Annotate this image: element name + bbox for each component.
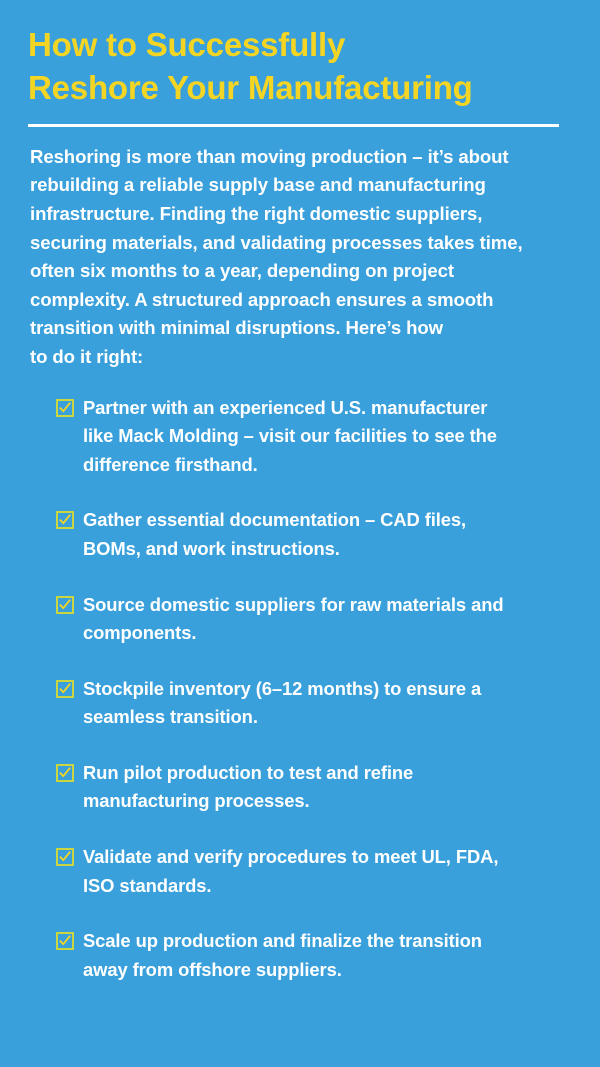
list-item-line: Partner with an experienced U.S. manufac… bbox=[83, 394, 497, 423]
list-item-text: Scale up production and finalize the tra… bbox=[83, 927, 482, 984]
list-item-line: away from offshore suppliers. bbox=[83, 956, 482, 985]
list-item-text: Validate and verify procedures to meet U… bbox=[83, 843, 498, 900]
list-item: Gather essential documentation – CAD fil… bbox=[56, 506, 590, 563]
list-item-line: Source domestic suppliers for raw materi… bbox=[83, 591, 503, 620]
header: How to Successfully Reshore Your Manufac… bbox=[0, 0, 600, 127]
list-item: Partner with an experienced U.S. manufac… bbox=[56, 394, 590, 480]
checkbox-checked-icon bbox=[56, 764, 74, 782]
list-item-line: difference firsthand. bbox=[83, 451, 497, 480]
list-item: Validate and verify procedures to meet U… bbox=[56, 843, 590, 900]
list-item-line: Gather essential documentation – CAD fil… bbox=[83, 506, 466, 535]
title-line-2: Reshore Your Manufacturing bbox=[28, 67, 570, 110]
infographic-poster: How to Successfully Reshore Your Manufac… bbox=[0, 0, 600, 1067]
list-item-line: ISO standards. bbox=[83, 872, 498, 901]
checklist: Partner with an experienced U.S. manufac… bbox=[0, 394, 600, 985]
intro-line-5: often six months to a year, depending on… bbox=[30, 257, 574, 286]
title-divider bbox=[28, 124, 559, 127]
list-item: Run pilot production to test and refine … bbox=[56, 759, 590, 816]
list-item-text: Partner with an experienced U.S. manufac… bbox=[83, 394, 497, 480]
checkbox-checked-icon bbox=[56, 848, 74, 866]
list-item: Stockpile inventory (6–12 months) to ens… bbox=[56, 675, 590, 732]
list-item-line: Stockpile inventory (6–12 months) to ens… bbox=[83, 675, 481, 704]
checkbox-checked-icon bbox=[56, 399, 74, 417]
list-item-line: BOMs, and work instructions. bbox=[83, 535, 466, 564]
list-item-line: manufacturing processes. bbox=[83, 787, 413, 816]
page-title: How to Successfully Reshore Your Manufac… bbox=[28, 24, 570, 110]
intro-line-1: Reshoring is more than moving production… bbox=[30, 143, 574, 172]
list-item-line: components. bbox=[83, 619, 503, 648]
list-item-text: Run pilot production to test and refine … bbox=[83, 759, 413, 816]
intro-paragraph: Reshoring is more than moving production… bbox=[0, 143, 600, 372]
list-item-line: Validate and verify procedures to meet U… bbox=[83, 843, 498, 872]
list-item: Source domestic suppliers for raw materi… bbox=[56, 591, 590, 648]
checkbox-checked-icon bbox=[56, 511, 74, 529]
list-item-text: Stockpile inventory (6–12 months) to ens… bbox=[83, 675, 481, 732]
intro-line-4: securing materials, and validating proce… bbox=[30, 229, 574, 258]
list-item-line: Scale up production and finalize the tra… bbox=[83, 927, 482, 956]
list-item-text: Source domestic suppliers for raw materi… bbox=[83, 591, 503, 648]
list-item-line: like Mack Molding – visit our facilities… bbox=[83, 422, 497, 451]
intro-line-8: to do it right: bbox=[30, 343, 574, 372]
list-item-text: Gather essential documentation – CAD fil… bbox=[83, 506, 466, 563]
intro-line-7: transition with minimal disruptions. Her… bbox=[30, 314, 574, 343]
list-item-line: Run pilot production to test and refine bbox=[83, 759, 413, 788]
intro-line-2: rebuilding a reliable supply base and ma… bbox=[30, 171, 574, 200]
checkbox-checked-icon bbox=[56, 596, 74, 614]
intro-line-6: complexity. A structured approach ensure… bbox=[30, 286, 574, 315]
list-item-line: seamless transition. bbox=[83, 703, 481, 732]
list-item: Scale up production and finalize the tra… bbox=[56, 927, 590, 984]
checkbox-checked-icon bbox=[56, 932, 74, 950]
intro-line-3: infrastructure. Finding the right domest… bbox=[30, 200, 574, 229]
checkbox-checked-icon bbox=[56, 680, 74, 698]
title-line-1: How to Successfully bbox=[28, 24, 570, 67]
